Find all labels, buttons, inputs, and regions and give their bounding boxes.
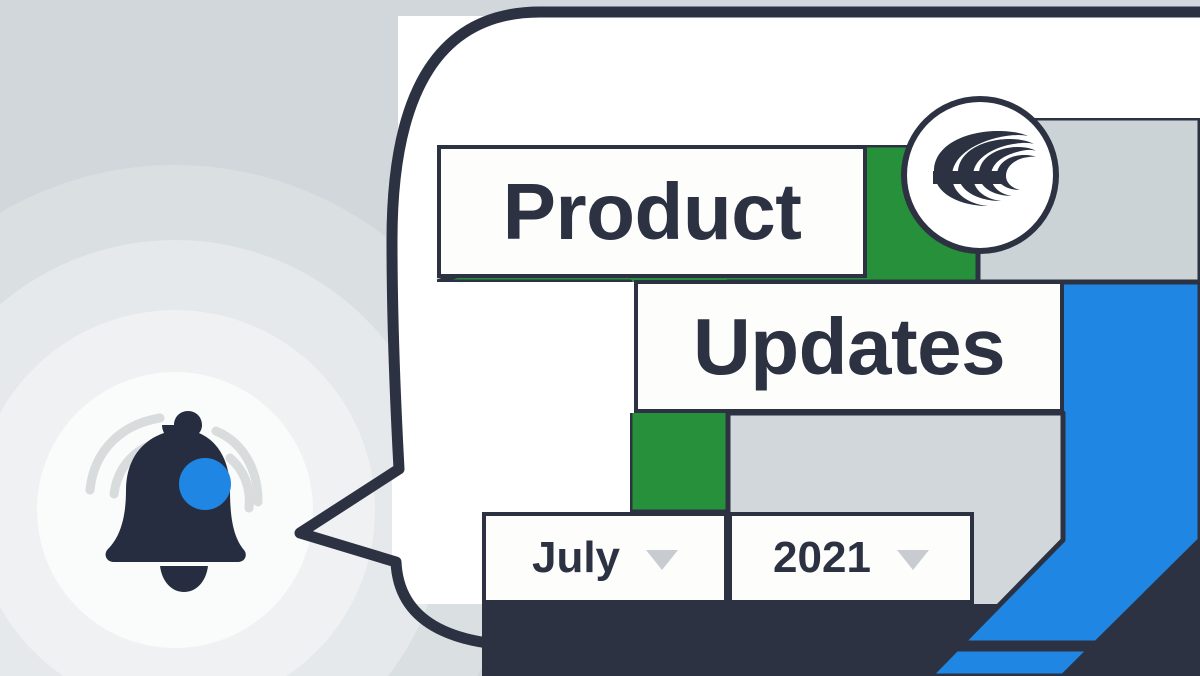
headline-text-product: Product bbox=[503, 172, 802, 252]
month-dropdown[interactable]: July bbox=[482, 512, 728, 604]
year-dropdown[interactable]: 2021 bbox=[728, 512, 974, 604]
headline-box-updates: Updates bbox=[634, 280, 1064, 413]
notification-bell-icon bbox=[78, 398, 288, 618]
headline-box-product: Product bbox=[437, 145, 867, 278]
bell-unread-dot bbox=[179, 458, 231, 510]
chevron-down-icon bbox=[897, 550, 929, 570]
month-dropdown-value: July bbox=[532, 536, 620, 580]
brand-logo bbox=[899, 94, 1061, 256]
poster-canvas: Product Updates July 2021 bbox=[0, 0, 1200, 676]
bell-illustration bbox=[78, 398, 288, 618]
brand-logo-icon bbox=[899, 94, 1061, 256]
headline-text-updates: Updates bbox=[693, 307, 1005, 387]
chevron-down-icon bbox=[646, 550, 678, 570]
year-dropdown-value: 2021 bbox=[773, 536, 871, 580]
